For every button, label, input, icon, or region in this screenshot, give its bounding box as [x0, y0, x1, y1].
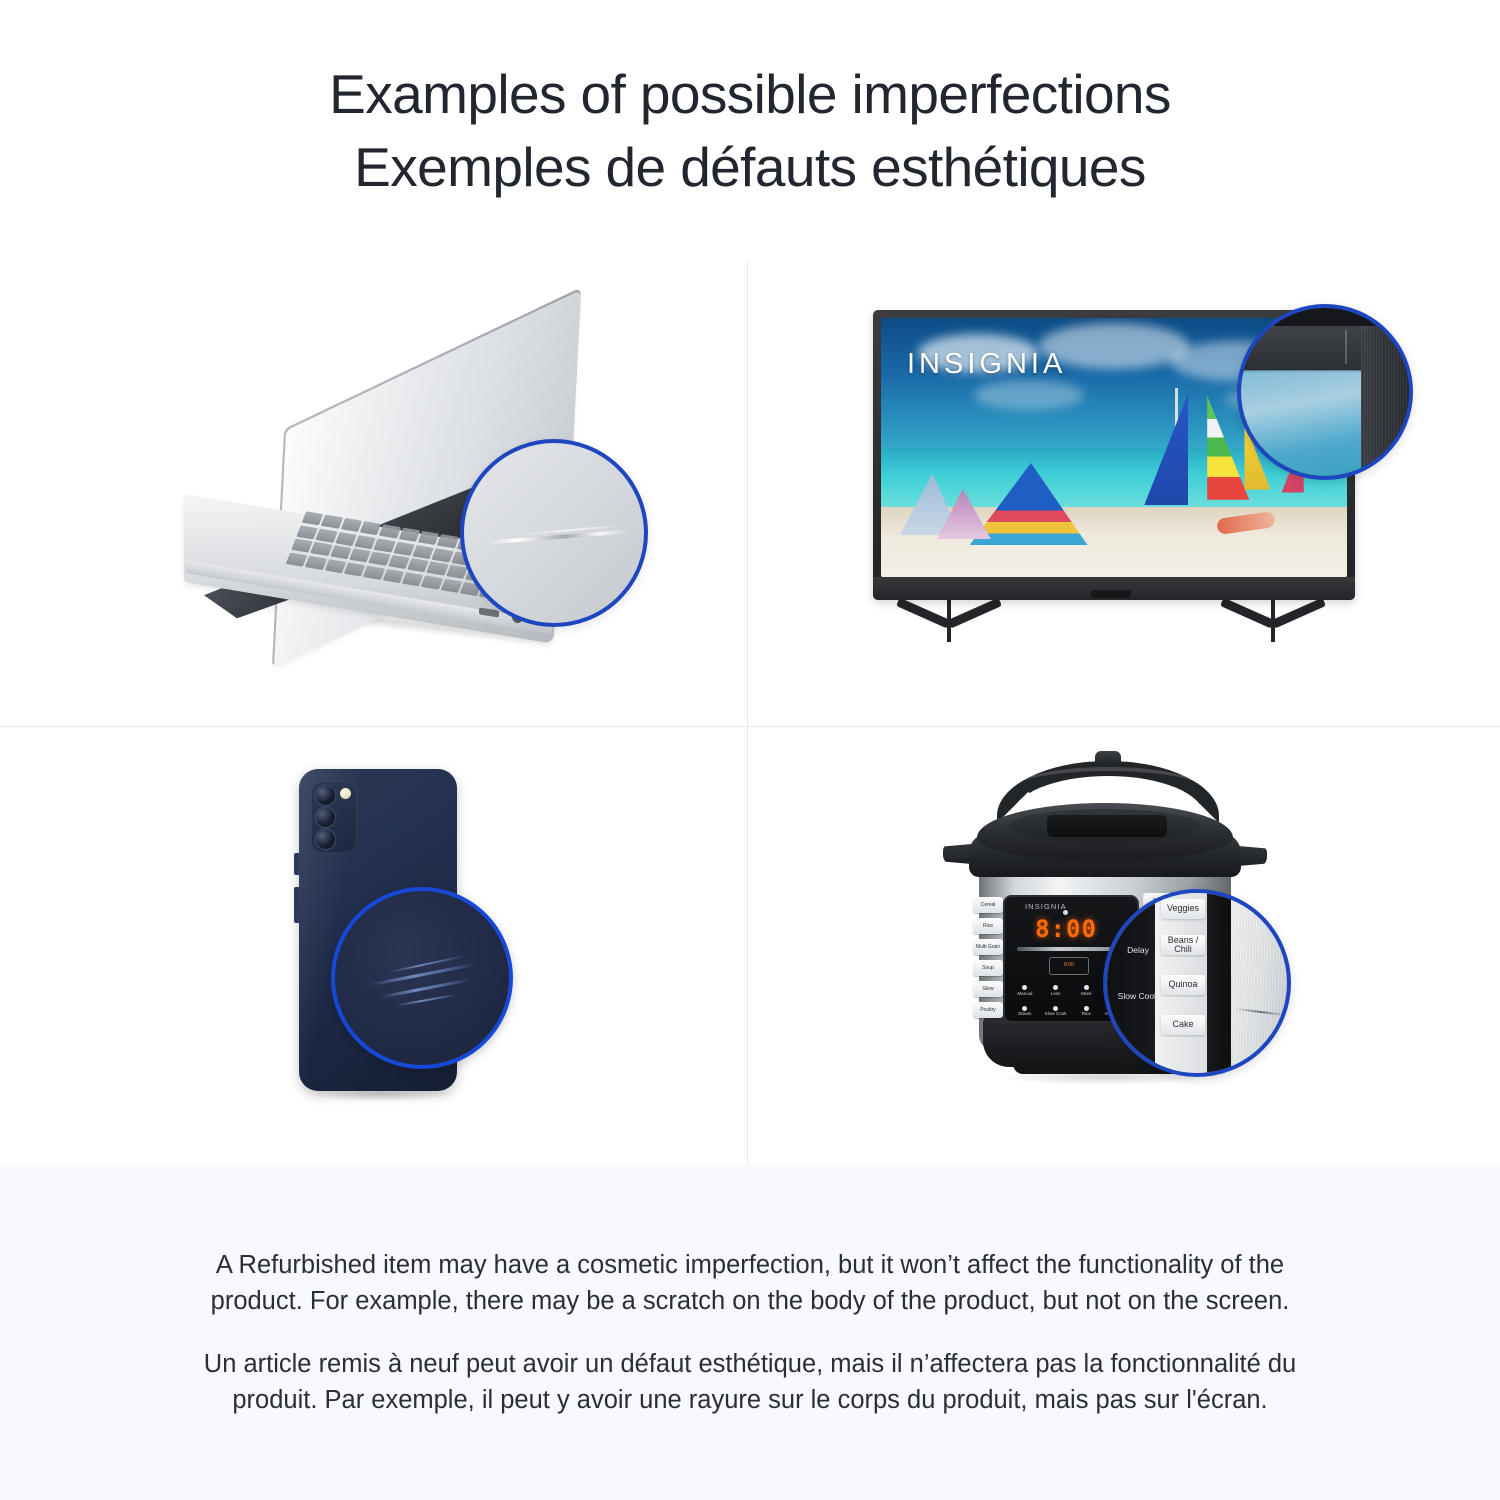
scratch-mark	[390, 955, 465, 973]
magnified-button: Cake	[1161, 1015, 1205, 1035]
magnified-button: Veggies	[1161, 899, 1205, 919]
panel-laptop	[0, 262, 748, 727]
tv-illustration: INSIGNIA	[873, 310, 1383, 680]
magnified-label: Delay	[1111, 945, 1165, 955]
bezel-texture	[1361, 326, 1413, 480]
panel-television: INSIGNIA	[748, 262, 1500, 727]
magnifier-tv-bezel	[1237, 304, 1413, 480]
bezel-scuff-mark	[1345, 330, 1347, 364]
cooker-key[interactable]: Less	[1042, 979, 1070, 997]
phone-power-button	[294, 887, 299, 923]
camera-lens-icon	[316, 808, 335, 827]
laptop-illustration	[170, 357, 670, 677]
panel-smartphone	[0, 727, 748, 1165]
cooker-button[interactable]: Stew	[973, 981, 1003, 997]
page-header: Examples of possible imperfections Exemp…	[0, 0, 1500, 262]
cooker-brand-label: INSIGNIA	[1025, 902, 1067, 911]
camera-module	[311, 781, 357, 853]
refurbished-imperfections-infographic: Examples of possible imperfections Exemp…	[0, 0, 1500, 1500]
footer-text-fr: Un article remis à neuf peut avoir un dé…	[175, 1346, 1325, 1418]
cooker-pressure-bar	[1017, 947, 1121, 951]
examples-grid: INSIGNIA	[0, 262, 1500, 1165]
tv-brand-logo: INSIGNIA	[907, 348, 1066, 381]
page-footer: A Refurbished item may have a cosmetic i…	[0, 1165, 1500, 1500]
phone-illustration	[275, 769, 495, 1129]
cooker-button[interactable]: Multi Grain	[973, 939, 1003, 955]
cooker-left-button-column[interactable]: Cereal Rice Multi Grain Soup Stew Poultr…	[973, 897, 1003, 1018]
page-title-en: Examples of possible imperfections	[329, 58, 1171, 131]
footer-text-en: A Refurbished item may have a cosmetic i…	[175, 1247, 1325, 1319]
bezel-screen-blur	[1237, 370, 1365, 480]
scratch-mark	[395, 993, 458, 1006]
cooker-key[interactable]: More	[1073, 979, 1101, 997]
cooker-key[interactable]: Steam	[1011, 1000, 1039, 1018]
cooker-button[interactable]: Poultry	[973, 1002, 1003, 1018]
cooker-time-display: 8:00	[1029, 916, 1103, 942]
cooker-secondary-display: 8:00	[1049, 957, 1089, 975]
magnifier-phone-scratches	[331, 887, 513, 1069]
camera-lens-icon	[316, 786, 335, 805]
panel-pressure-cooker: Cereal Rice Multi Grain Soup Stew Poultr…	[748, 727, 1500, 1165]
cooker-button[interactable]: Rice	[973, 918, 1003, 934]
camera-flash-icon	[340, 788, 351, 799]
tv-ir-sensor-icon	[1091, 590, 1131, 598]
cloud	[974, 380, 1084, 410]
magnified-label: Slow Cook	[1111, 991, 1165, 1001]
cooker-key[interactable]: Slow Cook	[1042, 1000, 1070, 1018]
camera-lens-icon	[316, 830, 335, 849]
magnified-panel-edge	[1207, 893, 1231, 1077]
phone-volume-button	[294, 853, 299, 875]
cooker-key[interactable]: Manual	[1011, 979, 1039, 997]
magnifier-cooker-scratch: Delay Slow Cook Veggies Beans / Chili Qu…	[1103, 889, 1291, 1077]
tv-leg-right	[1271, 598, 1275, 642]
cooker-lid-vent-panel	[1047, 815, 1167, 837]
cooker-handle-highlight	[1013, 767, 1203, 789]
tv-leg-left	[947, 598, 951, 642]
magnified-button: Quinoa	[1161, 975, 1205, 995]
pressure-cooker-illustration: Cereal Rice Multi Grain Soup Stew Poultr…	[943, 747, 1303, 1117]
magnifier-laptop-scratch	[460, 439, 648, 627]
magnified-button: Beans / Chili	[1161, 935, 1205, 955]
cooker-button[interactable]: Cereal	[973, 897, 1003, 913]
pressure-valve-icon	[1095, 751, 1121, 764]
page-title-fr: Exemples de défauts esthétiques	[354, 131, 1146, 204]
cooker-button[interactable]: Soup	[973, 960, 1003, 976]
cooker-key[interactable]: Rice	[1073, 1000, 1101, 1018]
